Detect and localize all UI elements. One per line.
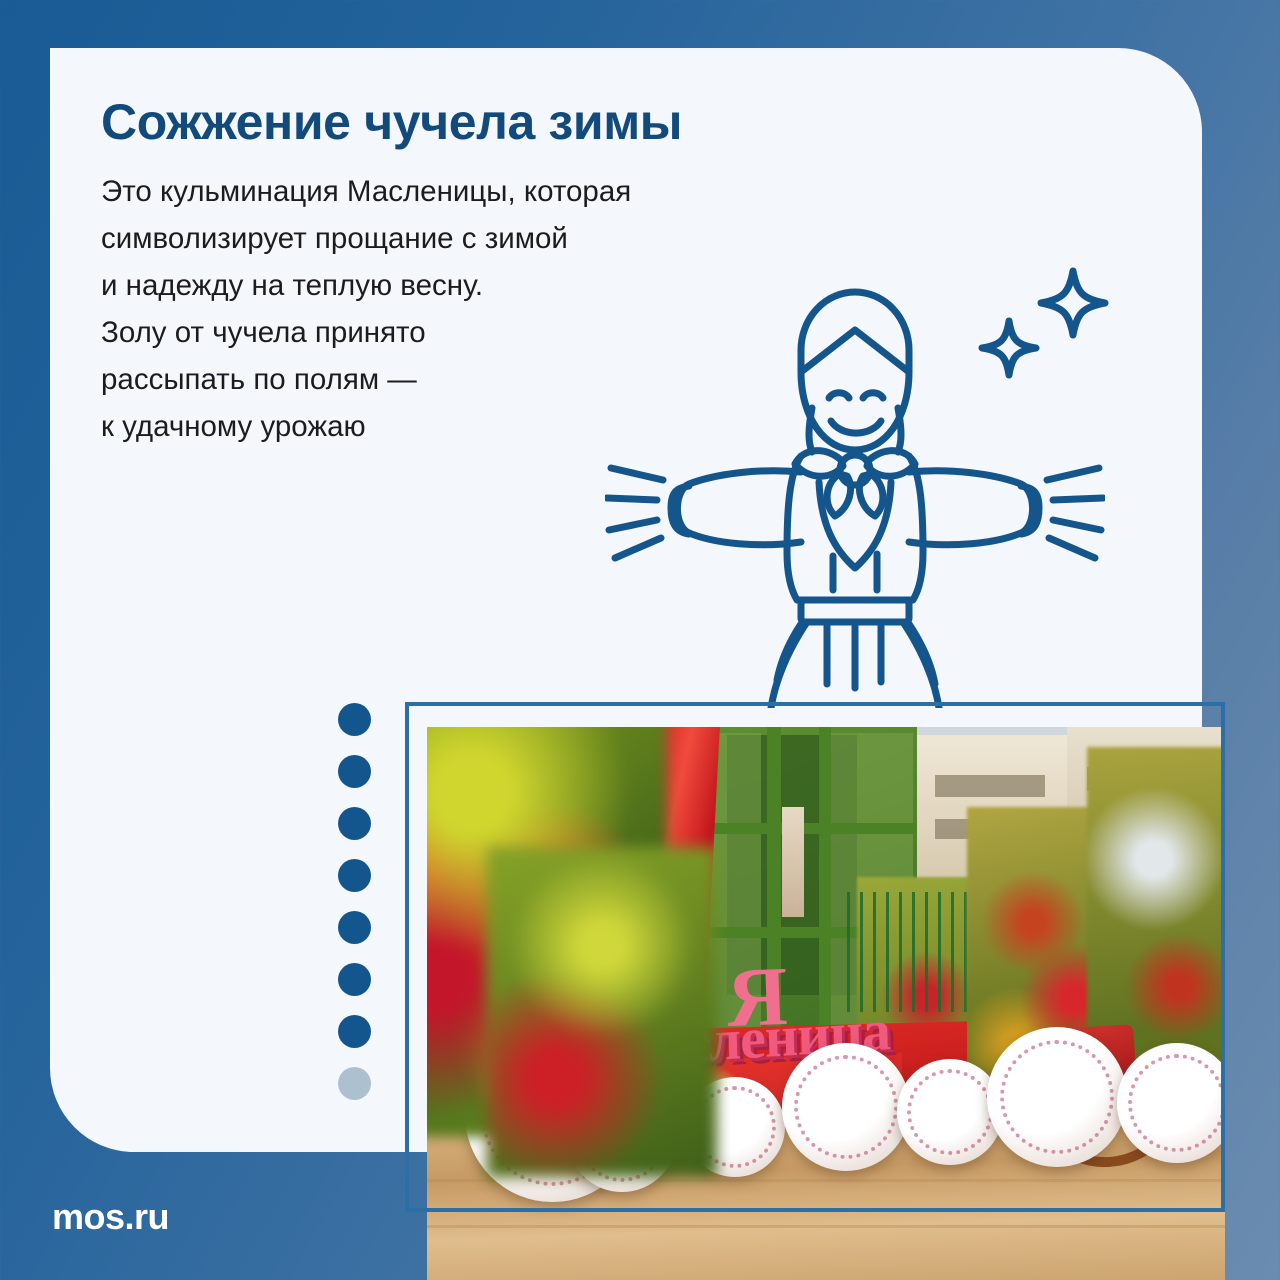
pagination-dot[interactable]: [338, 807, 371, 840]
body-line: символизирует прощание с зимой: [101, 215, 631, 262]
pagination-dot[interactable]: [338, 755, 371, 788]
body-line: Золу от чучела принято: [101, 309, 631, 356]
sparkle-icon: [965, 253, 1115, 403]
body-line: и надежду на теплую весну.: [101, 262, 631, 309]
pagination-dot[interactable]: [338, 703, 371, 736]
pagination-dot-active[interactable]: [338, 1067, 371, 1100]
body-text: Это кульминация Масленицы, которая симво…: [101, 168, 631, 450]
pagination-dot[interactable]: [338, 911, 371, 944]
pagination-dot[interactable]: [338, 859, 371, 892]
pagination-dot[interactable]: [338, 963, 371, 996]
photo-image: Я Масленица: [427, 727, 1225, 1280]
pagination-dot[interactable]: [338, 1015, 371, 1048]
mos-ru-logo[interactable]: mos.ru: [52, 1196, 169, 1238]
body-line: к удачному урожаю: [101, 403, 631, 450]
body-line: рассыпать по полям —: [101, 356, 631, 403]
page-title: Сожжение чучела зимы: [101, 93, 682, 151]
pagination-dots[interactable]: [338, 703, 371, 1100]
body-line: Это кульминация Масленицы, которая: [101, 168, 631, 215]
festival-photo: Я Масленица: [405, 702, 1225, 1212]
